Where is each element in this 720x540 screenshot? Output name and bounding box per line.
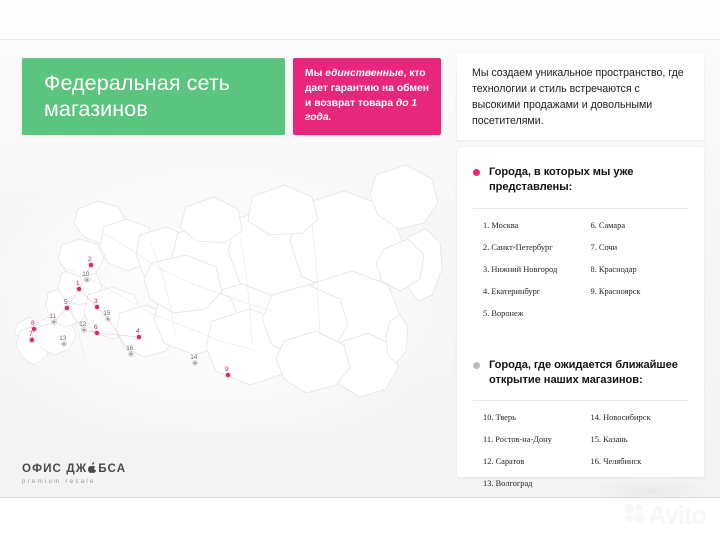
marker-label: 14: [190, 354, 198, 361]
logo-text-after: БСА: [98, 462, 126, 475]
promo-line1-b: , кто: [404, 68, 426, 79]
section-existing-title: Города, в которых мы уже представлены:: [489, 165, 688, 195]
city-item: 10. Тверь: [483, 414, 581, 436]
promo-line1-a: Мы: [305, 68, 325, 79]
city-item: 5. Воронеж: [483, 310, 581, 332]
marker-label: 5: [64, 299, 68, 306]
avito-watermark: Avito: [623, 502, 706, 529]
marker-dot[interactable]: [137, 335, 141, 339]
top-gutter: [0, 0, 720, 40]
cities-card: Города, в которых мы уже представлены: 1…: [457, 147, 704, 477]
marker-label: 2: [88, 256, 92, 263]
marker-dot[interactable]: [130, 353, 133, 356]
marker-label: 9: [225, 366, 229, 373]
marker-dot[interactable]: [95, 305, 99, 309]
marker-dot[interactable]: [32, 327, 36, 331]
marker-dot[interactable]: [86, 279, 89, 282]
logo-text-before: ОФИС ДЖ: [22, 462, 87, 475]
marker-dot[interactable]: [89, 263, 93, 267]
marker-dot[interactable]: [77, 287, 81, 291]
marker-label: 8: [31, 320, 35, 327]
bullet-grey-icon: [473, 362, 480, 369]
city-item: 3. Нижний Новгород: [483, 266, 581, 288]
promo-card: Мы единственные, кто дает гарантию на об…: [293, 58, 441, 135]
promo-text: Мы единственные, кто дает гарантию на об…: [293, 67, 441, 127]
marker-dot[interactable]: [63, 343, 66, 346]
city-item: 7. Сочи: [591, 244, 689, 266]
marker-label: 6: [94, 324, 98, 331]
city-list-existing: 1. Москва2. Санкт-Петербург3. Нижний Нов…: [473, 209, 688, 332]
marker-dot[interactable]: [83, 329, 86, 332]
avito-logo-icon: [623, 502, 645, 529]
marker-dot[interactable]: [194, 362, 197, 365]
logo-wordmark: ОФИС ДЖ БСА: [22, 462, 182, 476]
promo-line2: дает гарантию на обмен: [305, 83, 429, 94]
marker-label: 3: [94, 298, 98, 305]
city-item: 11. Ростов-на-Дону: [483, 436, 581, 458]
marker-label: 15: [103, 310, 111, 317]
intro-text: Мы создаем уникальное пространство, где …: [472, 66, 690, 130]
marker-dot[interactable]: [65, 306, 69, 310]
section-existing-header: Города, в которых мы уже представлены:: [473, 165, 688, 195]
apple-icon: [88, 462, 97, 476]
city-item: 6. Самара: [591, 222, 689, 244]
city-item: 15. Казань: [591, 436, 689, 458]
marker-label: 4: [136, 328, 140, 335]
marker-label: 1: [76, 280, 80, 287]
avito-wordmark: Avito: [648, 503, 706, 528]
section-upcoming-header: Города, где ожидается ближайшее открытие…: [473, 358, 688, 388]
city-item: 12. Саратов: [483, 458, 581, 480]
russia-map: 12345678910111213141516: [0, 145, 455, 435]
section-upcoming-title: Города, где ожидается ближайшее открытие…: [489, 358, 688, 388]
promo-line3-a: и возврат товара: [305, 98, 396, 109]
marker-label: 11: [49, 313, 56, 320]
headline-text: Федеральная сеть магазинов: [22, 71, 285, 121]
map-svg: 12345678910111213141516: [0, 145, 455, 435]
city-item: 1. Москва: [483, 222, 581, 244]
slide-canvas: Федеральная сеть магазинов Мы единственн…: [0, 0, 720, 540]
city-item: 9. Красноярск: [591, 288, 689, 310]
bottom-gutter: [0, 498, 720, 540]
marker-label: 10: [82, 271, 90, 278]
marker-label: 16: [126, 345, 134, 352]
logo-tagline: premium resale: [22, 478, 182, 485]
top-divider: [0, 39, 720, 40]
city-item: 2. Санкт-Петербург: [483, 244, 581, 266]
promo-line1-emphasis: единственные: [325, 68, 403, 79]
marker-label: 13: [59, 335, 67, 342]
marker-dot[interactable]: [107, 318, 110, 321]
headline-card: Федеральная сеть магазинов: [22, 58, 285, 135]
marker-dot[interactable]: [226, 373, 230, 377]
city-item: 8. Краснодар: [591, 266, 689, 288]
city-item: 14. Новосибирск: [591, 414, 689, 436]
brand-logo: ОФИС ДЖ БСА premium resale: [22, 462, 182, 485]
marker-dot[interactable]: [30, 338, 34, 342]
intro-card: Мы создаем уникальное пространство, где …: [457, 53, 704, 140]
marker-label: 12: [79, 321, 87, 328]
marker-dot[interactable]: [53, 321, 56, 324]
marker-dot[interactable]: [95, 331, 99, 335]
city-item: 4. Екатеринбург: [483, 288, 581, 310]
bullet-pink-icon: [473, 169, 480, 176]
